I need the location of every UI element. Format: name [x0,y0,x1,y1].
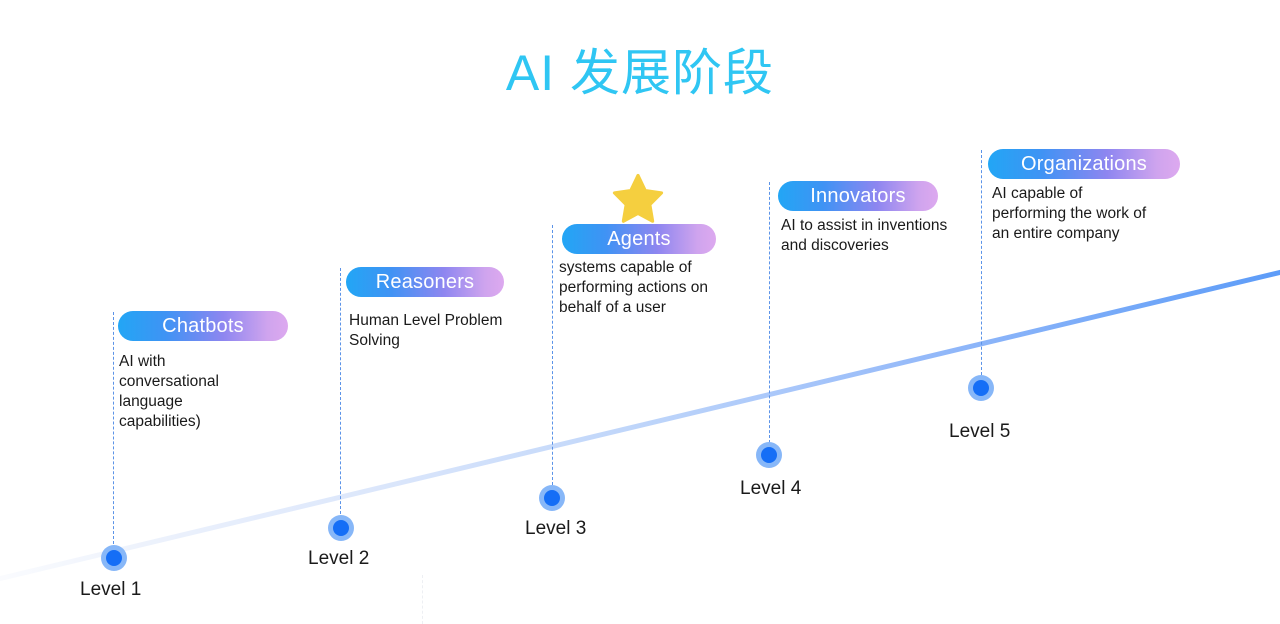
connector-line-level-3 [552,225,553,485]
level-label-level-5: Level 5 [949,420,1010,444]
stage-description-level-2: Human Level Problem Solving [349,311,564,351]
level-label-level-1: Level 1 [80,578,141,602]
stage-pill-reasoners[interactable]: Reasoners [346,267,504,297]
node-dot-level-4[interactable] [756,442,782,468]
stage-description-level-1: AI with conversational language capabili… [119,352,309,432]
node-dot-level-3[interactable] [539,485,565,511]
stage-description-level-3: systems capable of performing actions on… [559,258,759,318]
node-dot-level-1[interactable] [101,545,127,571]
level-label-level-3: Level 3 [525,517,586,541]
stage-description-level-5: AI capable of performing the work of an … [992,184,1192,244]
level-label-level-2: Level 2 [308,547,369,571]
stage-pill-chatbots[interactable]: Chatbots [118,311,288,341]
stage-pill-innovators[interactable]: Innovators [778,181,938,211]
faint-guide-line [422,575,423,624]
node-dot-level-5[interactable] [968,375,994,401]
stage-pill-agents[interactable]: Agents [562,224,716,254]
connector-line-level-5 [981,150,982,375]
page-title: AI 发展阶段 [0,42,1280,104]
connector-line-level-4 [769,182,770,443]
connector-line-level-1 [113,312,114,544]
slide-canvas: AI 发展阶段 Chatbots AI with conversational … [0,0,1280,624]
connector-line-level-2 [340,268,341,514]
node-dot-level-2[interactable] [328,515,354,541]
level-label-level-4: Level 4 [740,477,801,501]
stage-pill-organizations[interactable]: Organizations [988,149,1180,179]
stage-description-level-4: AI to assist in inventions and discoveri… [781,216,1001,256]
star-icon [611,173,665,225]
